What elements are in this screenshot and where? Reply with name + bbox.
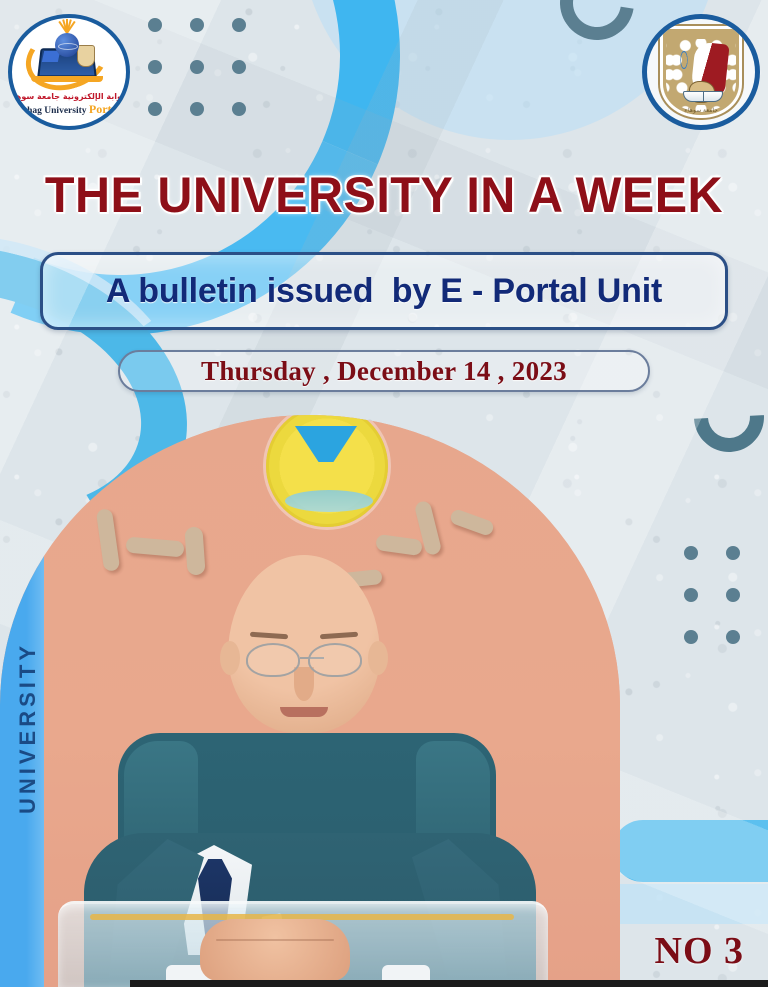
dot-grid-right xyxy=(684,546,768,644)
mouth xyxy=(280,707,328,717)
president-photo: UNIVERSITY xyxy=(0,415,620,987)
vertical-blue-stripe: UNIVERSITY xyxy=(0,415,44,987)
open-book-icon xyxy=(683,91,723,102)
laptop-base-icon xyxy=(31,76,103,82)
bulletin-label: A bulletin issued by E - Portal Unit xyxy=(106,272,662,311)
eyeglasses-icon xyxy=(236,643,372,681)
crest-arabic-text: جامعة سوهاج xyxy=(663,107,739,114)
date-label: Thursday , December 14 , 2023 xyxy=(201,356,567,387)
sohag-university-portal-logo[interactable]: البوابة الإلكترونية جامعة سوهاج Sohag Un… xyxy=(8,14,130,130)
bulletin-poster: البوابة الإلكترونية جامعة سوهاج Sohag Un… xyxy=(0,0,768,987)
photo-content: UNIVERSITY xyxy=(0,415,620,987)
portal-logo-arabic-text: البوابة الإلكترونية جامعة سوهاج xyxy=(8,92,130,101)
page-title: THE UNIVERSITY IN A WEEK xyxy=(12,166,757,224)
bottom-black-bar xyxy=(130,980,768,987)
globe-icon xyxy=(55,33,79,57)
pale-right-band xyxy=(600,884,768,924)
atom-icon xyxy=(675,51,693,69)
issue-number: NO 3 xyxy=(655,929,745,973)
clasped-hands xyxy=(200,919,350,981)
dot-grid-top-left xyxy=(148,18,246,116)
crest-shield-shape: جامعة سوهاج xyxy=(660,26,742,118)
vertical-university-text: UNIVERSITY xyxy=(15,642,41,814)
slate-hook-right-icon xyxy=(680,368,768,467)
sohag-university-crest[interactable]: جامعة سوهاج xyxy=(642,14,760,130)
bulletin-banner: A bulletin issued by E - Portal Unit xyxy=(40,252,728,330)
mini-crest-icon xyxy=(77,45,95,67)
portal-logo-english-text: Sohag University Portal xyxy=(17,102,121,117)
portal-logo-english-label: Sohag University xyxy=(17,106,89,116)
brow-left xyxy=(250,632,288,640)
blue-right-band xyxy=(612,820,768,882)
portal-logo-illustration xyxy=(23,29,115,91)
date-pill: Thursday , December 14 , 2023 xyxy=(118,350,650,392)
brow-right xyxy=(320,632,358,640)
